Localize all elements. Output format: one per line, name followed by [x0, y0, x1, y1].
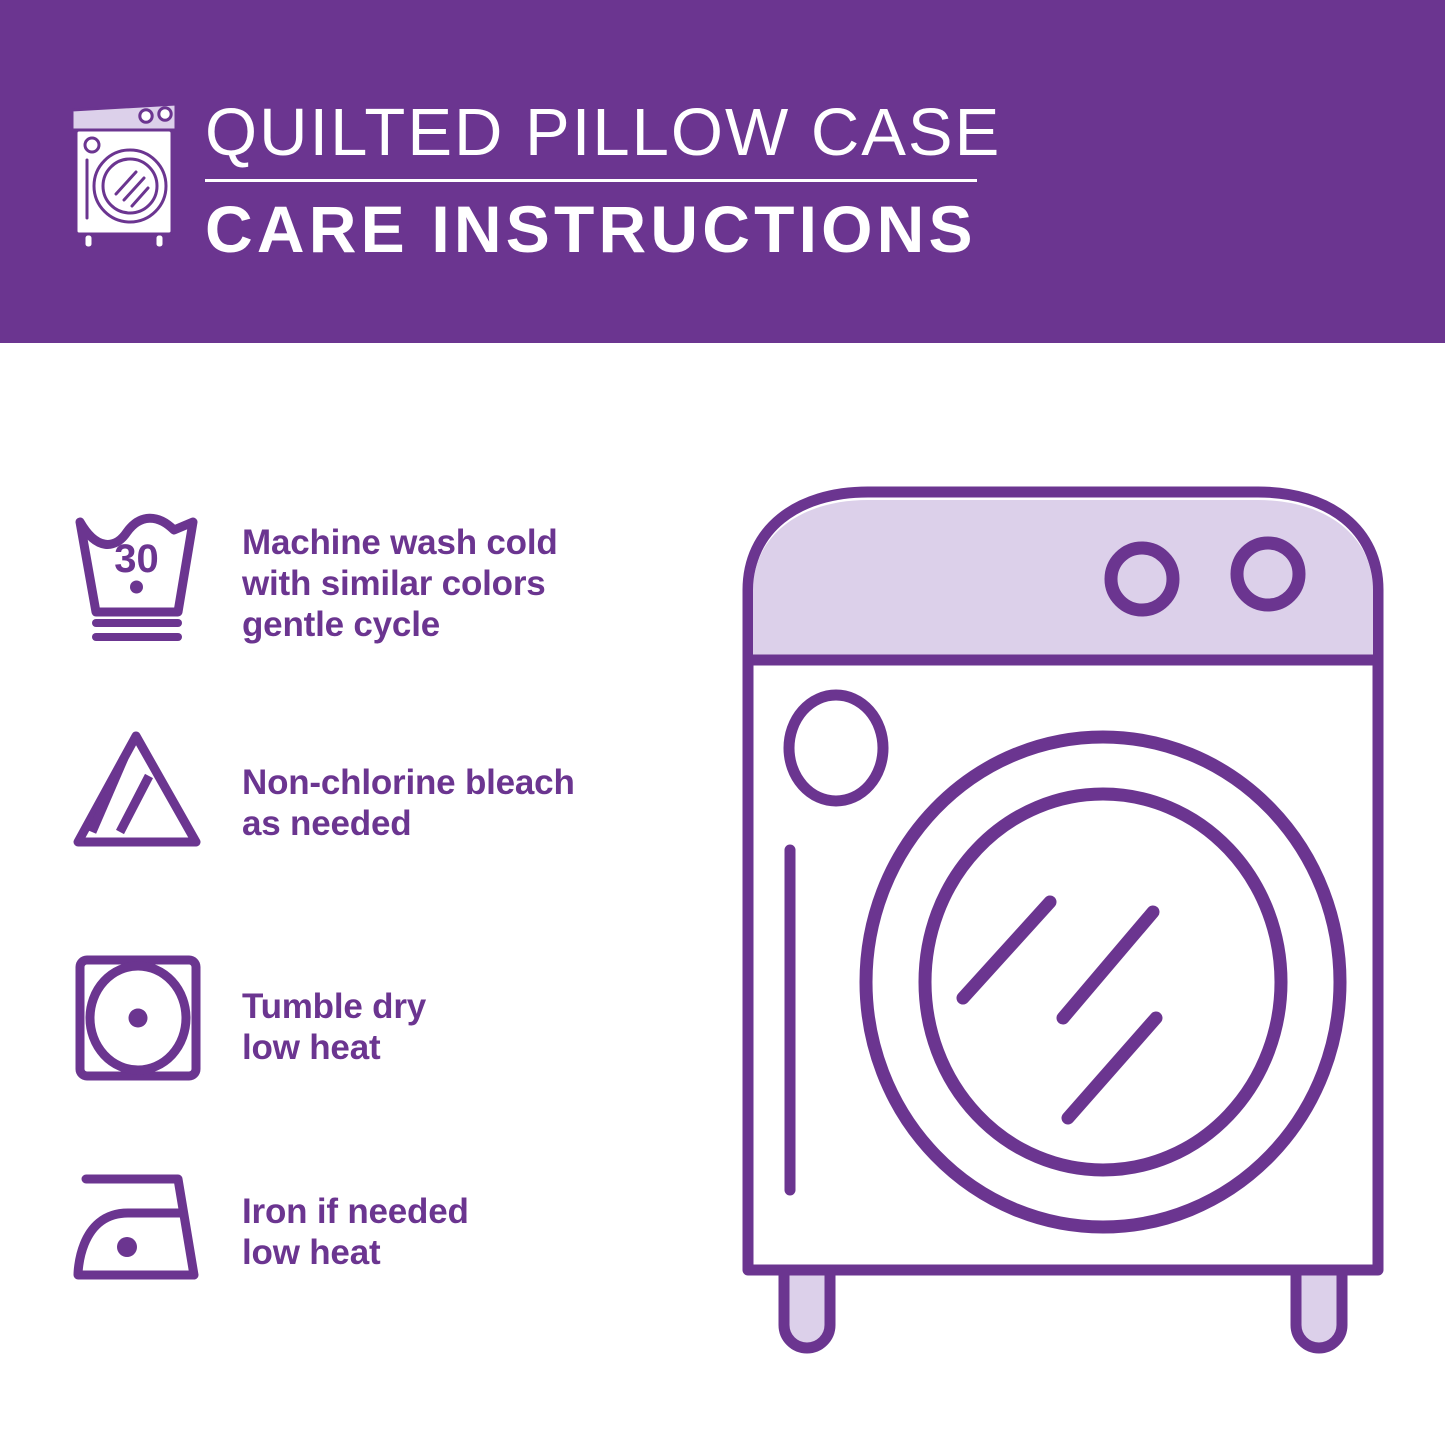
care-row-tumble-dry: Tumble dry low heat [70, 948, 690, 1088]
tumble-dry-square-circle-icon [70, 948, 220, 1088]
care-row-iron: Iron if needed low heat [70, 1163, 690, 1293]
care-instruction-list: 30 Machine wash cold with similar colors… [0, 343, 700, 1445]
iron-one-dot-icon [70, 1163, 220, 1293]
washer-knob-right [1237, 543, 1299, 605]
care-line: Tumble dry [242, 986, 690, 1027]
header-titles: QUILTED PILLOW CASE CARE INSTRUCTIONS [205, 95, 1305, 267]
care-row-label: Tumble dry low heat [220, 948, 690, 1068]
care-line: with similar colors [242, 563, 690, 604]
care-line: Machine wash cold [242, 522, 690, 563]
wash-temperature-value: 30 [114, 537, 159, 581]
washer-leg-right [1296, 1270, 1342, 1348]
care-row-bleach: Non-chlorine bleach as needed [70, 728, 690, 858]
washing-machine-icon [62, 98, 192, 253]
care-line: low heat [242, 1027, 690, 1068]
care-row-label: Non-chlorine bleach as needed [220, 728, 690, 844]
washer-leg-left [784, 1270, 830, 1348]
care-line: Non-chlorine bleach [242, 762, 690, 803]
bleach-triangle-stripes-icon [70, 728, 220, 858]
care-row-label: Machine wash cold with similar colors ge… [220, 508, 690, 645]
care-line: low heat [242, 1232, 690, 1273]
product-title: QUILTED PILLOW CASE [205, 95, 1305, 171]
care-line: as needed [242, 803, 690, 844]
washing-machine-illustration [718, 470, 1408, 1370]
section-title: CARE INSTRUCTIONS [205, 191, 1305, 267]
wash-tub-30-icon: 30 [70, 508, 220, 648]
care-row-label: Iron if needed low heat [220, 1163, 690, 1273]
header-banner: QUILTED PILLOW CASE CARE INSTRUCTIONS [0, 0, 1445, 343]
care-row-machine-wash: 30 Machine wash cold with similar colors… [70, 508, 690, 648]
care-line: Iron if needed [242, 1191, 690, 1232]
title-divider [205, 179, 977, 182]
care-instructions-card: QUILTED PILLOW CASE CARE INSTRUCTIONS 30 [0, 0, 1445, 1445]
washer-knob-left [1111, 548, 1173, 610]
care-line: gentle cycle [242, 604, 690, 645]
